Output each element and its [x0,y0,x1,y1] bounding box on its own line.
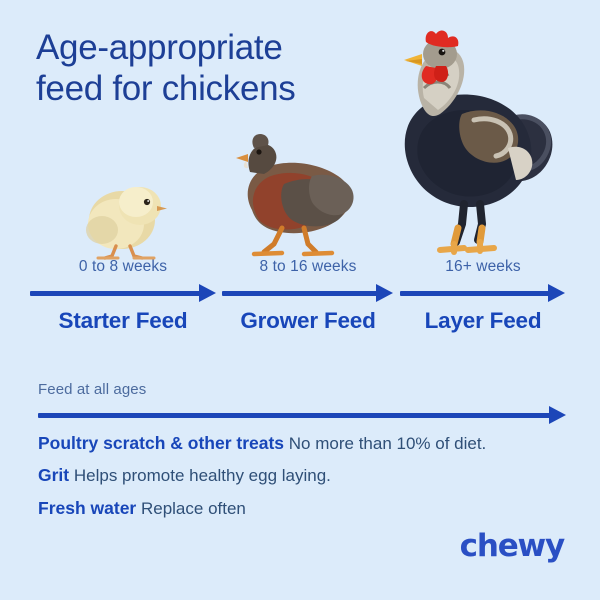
feed-stage-layer: 16+ weeks Layer Feed [400,258,566,334]
note-description: Helps promote healthy egg laying. [74,466,331,485]
list-item: Grit Helps promote healthy egg laying. [38,464,578,487]
feed-notes-list: Poultry scratch & other treats No more t… [38,432,578,529]
stage-feed-name: Starter Feed [30,308,216,334]
list-item: Poultry scratch & other treats No more t… [38,432,578,455]
note-term: Fresh water [38,498,136,518]
stage-feed-name: Grower Feed [222,308,394,334]
all-ages-label: Feed at all ages [38,381,566,398]
baby-chick-illustration [72,180,180,265]
arrow-head-icon [548,284,565,302]
stage-age-label: 16+ weeks [400,258,566,278]
feed-stage-grower: 8 to 16 weeks Grower Feed [222,258,394,334]
arrow-shaft [38,413,550,418]
feed-stage-starter: 0 to 8 weeks Starter Feed [30,258,216,334]
arrow-head-icon [549,406,566,424]
arrow-head-icon [199,284,216,302]
arrow-shaft [400,291,549,296]
stage-arrow [400,282,566,304]
note-description: No more than 10% of diet. [289,434,487,453]
note-term: Grit [38,465,69,485]
infographic-canvas: Age-appropriate feed for chickens [0,0,600,600]
adult-hen-illustration [358,28,558,265]
all-ages-arrow [38,404,566,424]
note-description: Replace often [141,499,246,518]
pullet-chicken-illustration [212,132,360,265]
stage-age-label: 0 to 8 weeks [30,258,216,278]
arrow-shaft [30,291,200,296]
stage-feed-name: Layer Feed [400,308,566,334]
chicken-illustration-group [0,30,600,265]
arrow-head-icon [376,284,393,302]
stage-arrow [30,282,216,304]
list-item: Fresh water Replace often [38,497,578,520]
stage-age-label: 8 to 16 weeks [222,258,394,278]
chewy-logo[interactable]: chewy [460,528,564,564]
feed-at-all-ages-section: Feed at all ages [38,381,566,424]
note-term: Poultry scratch & other treats [38,433,284,453]
stage-arrow [222,282,394,304]
arrow-shaft [222,291,377,296]
